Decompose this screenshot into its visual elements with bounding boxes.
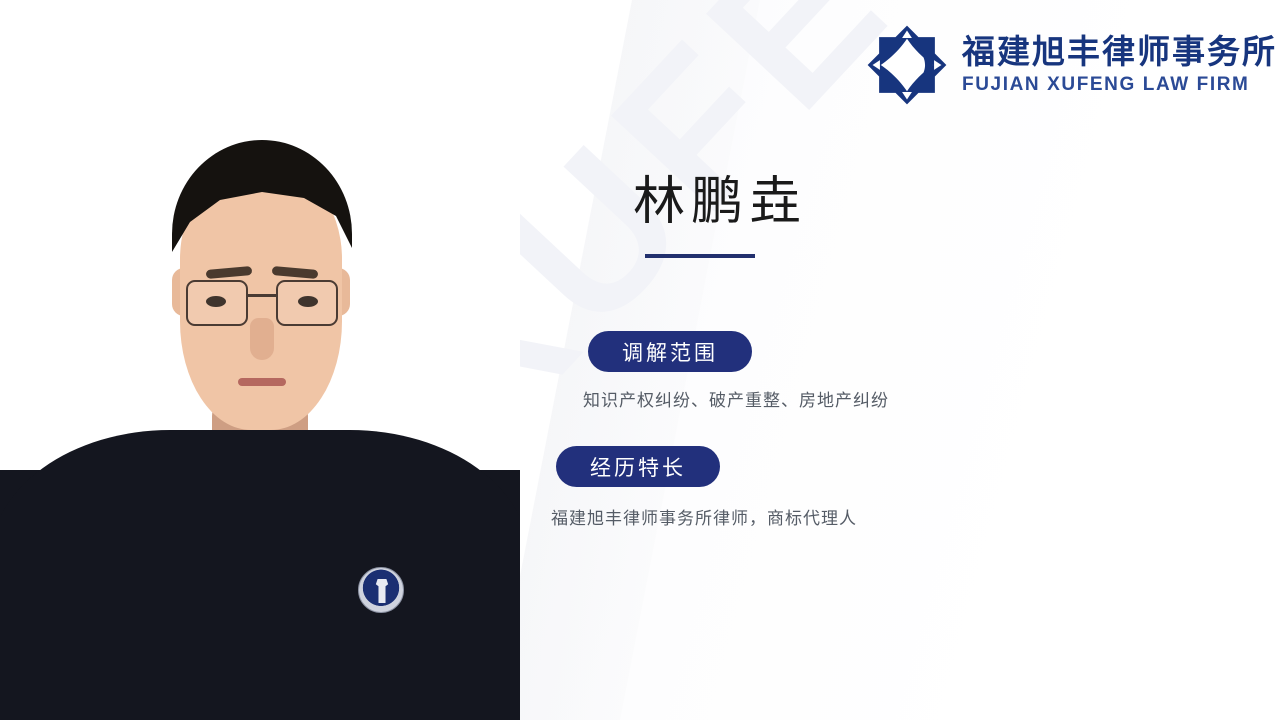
glasses-lens-left: [186, 280, 248, 326]
firm-logo-text: 福建旭丰律师事务所 FUJIAN XUFENG LAW FIRM: [962, 34, 1277, 97]
lawyer-portrait-photo: [0, 0, 520, 720]
section-content-experience-specialty: 福建旭丰律师事务所律师，商标代理人: [551, 504, 857, 529]
nose: [250, 318, 274, 360]
firm-logo-block[interactable]: 福建旭丰律师事务所 FUJIAN XUFENG LAW FIRM: [866, 24, 1277, 106]
glasses-bridge: [248, 294, 276, 297]
section-badge-mediation-scope[interactable]: 调解范围: [588, 331, 752, 372]
black-robe: [0, 430, 520, 720]
section-content-mediation-scope: 知识产权纠纷、破产重整、房地产纠纷: [583, 386, 889, 411]
lawyer-emblem-inner: [371, 579, 393, 603]
octagram-star-logo-icon: [866, 24, 948, 106]
glasses-lens-right: [276, 280, 338, 326]
firm-name-en: FUJIAN XUFENG LAW FIRM: [962, 73, 1277, 97]
slide-canvas: XUFENG: [0, 0, 1280, 720]
mouth: [238, 378, 286, 386]
section-badge-experience-specialty[interactable]: 经历特长: [556, 446, 720, 487]
firm-name-cn: 福建旭丰律师事务所: [962, 34, 1277, 73]
name-underline-rule: [645, 254, 755, 258]
lawyer-emblem-pin-icon: [358, 567, 404, 613]
person-name: 林鹏垚: [633, 174, 807, 231]
